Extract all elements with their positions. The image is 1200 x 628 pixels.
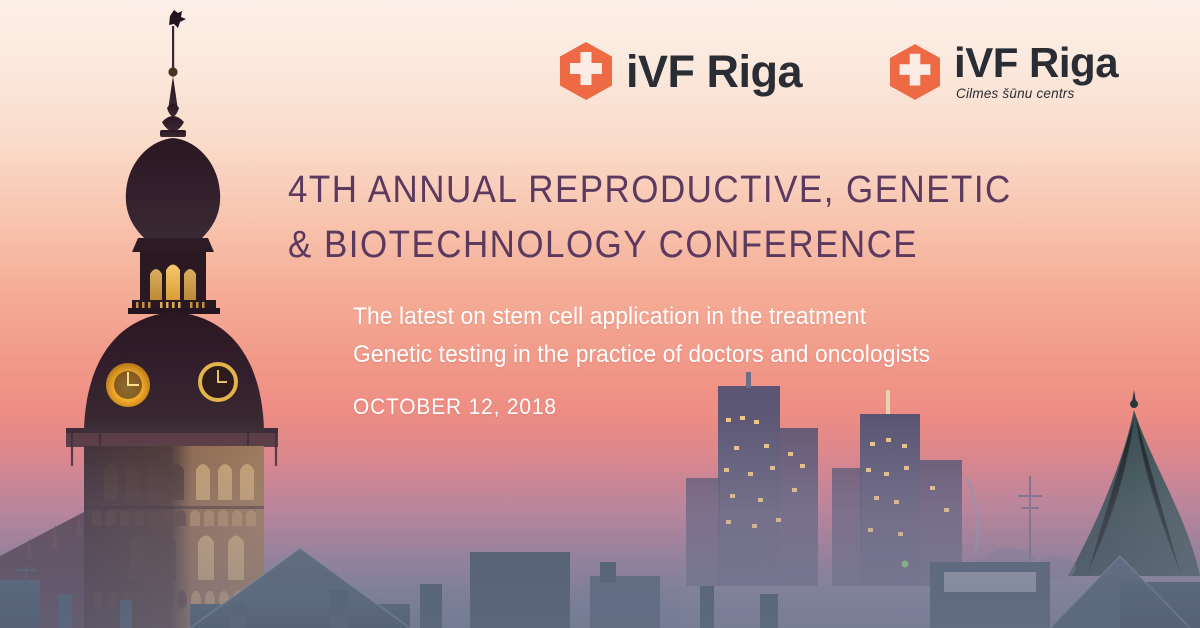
ivf-riga-logo-stemcell[interactable]: iVF Riga Cilmes šūnu centrs: [890, 42, 1118, 101]
logo-tagline: Cilmes šūnu centrs: [956, 86, 1118, 101]
conference-title: 4th Annual Reproductive, Genetic & Biote…: [288, 163, 1012, 273]
conference-title-line-1: 4th Annual Reproductive, Genetic: [288, 163, 1012, 218]
conference-title-line-2: & Biotechnology Conference: [288, 218, 1012, 273]
conference-subtitle-line-1: The latest on stem cell application in t…: [353, 298, 930, 336]
hexagon-cross-icon: [890, 44, 940, 100]
belfry-lit-arches: [150, 265, 196, 303]
conference-date: October 12, 2018: [353, 394, 557, 420]
weather-vane-icon: [168, 10, 186, 77]
conference-banner: iVF Riga iVF Riga Cilmes šūnu centrs 4th…: [0, 0, 1200, 628]
wordmark-text: iVF Riga: [626, 46, 802, 97]
conference-subtitle-line-2: Genetic testing in the practice of docto…: [353, 336, 930, 374]
ivf-riga-wordmark: iVF Riga: [954, 42, 1118, 84]
clock-face-right: [200, 364, 236, 400]
atmospheric-haze: [0, 418, 1200, 628]
hexagon-cross-icon: [560, 42, 612, 100]
clock-face-left: [106, 363, 150, 407]
wordmark-text: iVF Riga: [954, 39, 1118, 86]
ivf-riga-wordmark: iVF Riga: [626, 49, 802, 94]
logo-group: iVF Riga iVF Riga Cilmes šūnu centrs: [560, 42, 1118, 101]
ivf-riga-logo-primary[interactable]: iVF Riga: [560, 42, 802, 100]
conference-subtitle: The latest on stem cell application in t…: [353, 298, 930, 374]
